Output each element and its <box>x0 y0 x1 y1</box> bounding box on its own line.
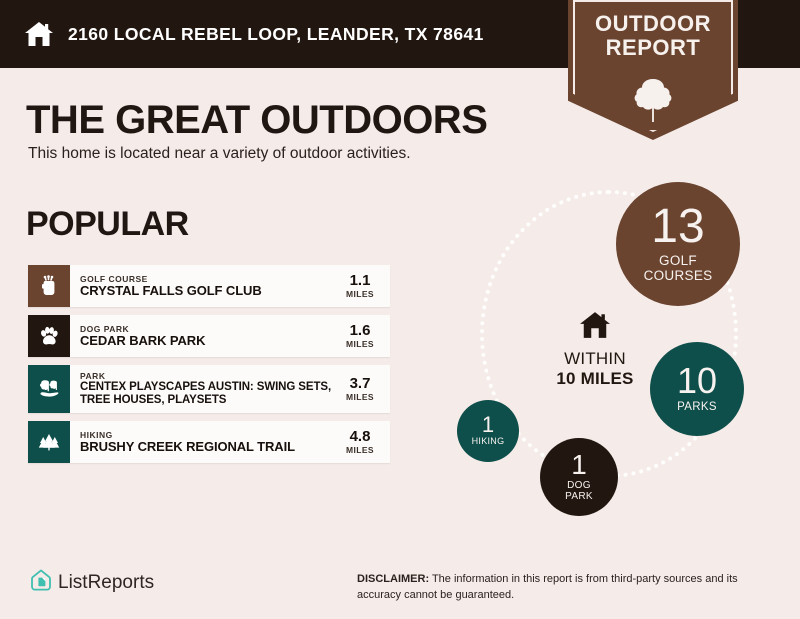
distance-value: 1.6 <box>350 323 371 338</box>
list-item-name: CENTEX PLAYSCAPES AUSTIN: SWING SETS, TR… <box>80 381 336 407</box>
listreports-logo[interactable]: ListReports <box>30 568 154 597</box>
stat-label: DOG PARK <box>565 480 593 502</box>
badge-title-line1: OUTDOOR <box>568 12 738 36</box>
stat-circle-parks: 10 PARKS <box>650 342 744 436</box>
pine-trees-icon <box>28 421 70 463</box>
stat-circle-hiking: 1 HIKING <box>457 400 519 462</box>
distance-value: 4.8 <box>350 429 371 444</box>
list-item-text: HIKING BRUSHY CREEK REGIONAL TRAIL <box>70 421 336 463</box>
distance-unit: MILES <box>346 392 374 402</box>
badge-title: OUTDOOR REPORT <box>568 12 738 60</box>
center-label-line2: 10 MILES <box>525 369 665 389</box>
distance-unit: MILES <box>346 445 374 455</box>
paw-print-icon <box>28 315 70 357</box>
list-item-name: BRUSHY CREEK REGIONAL TRAIL <box>80 440 336 455</box>
diagram-center-label: WITHIN 10 MILES <box>525 310 665 389</box>
stat-circle-dog-park: 1 DOG PARK <box>540 438 618 516</box>
stat-count: 1 <box>482 415 494 436</box>
page-title: THE GREAT OUTDOORS <box>26 98 487 143</box>
list-item[interactable]: GOLF COURSE CRYSTAL FALLS GOLF CLUB 1.1 … <box>28 265 390 307</box>
page-subtitle: This home is located near a variety of o… <box>28 145 411 163</box>
list-item[interactable]: HIKING BRUSHY CREEK REGIONAL TRAIL 4.8 M… <box>28 421 390 463</box>
list-item[interactable]: DOG PARK CEDAR BARK PARK 1.6 MILES <box>28 315 390 357</box>
stat-label-line2: PARK <box>565 491 593 502</box>
outdoor-summary-diagram: 13 GOLF COURSES 10 PARKS 1 DOG PARK 1 HI… <box>420 170 800 540</box>
distance-unit: MILES <box>346 339 374 349</box>
popular-list: GOLF COURSE CRYSTAL FALLS GOLF CLUB 1.1 … <box>28 265 390 471</box>
badge-title-line2: REPORT <box>568 36 738 60</box>
list-item-distance: 1.6 MILES <box>336 315 390 357</box>
list-item-name: CRYSTAL FALLS GOLF CLUB <box>80 284 336 299</box>
list-item-distance: 3.7 MILES <box>336 365 390 413</box>
stat-label-line1: DOG <box>565 480 593 491</box>
header-content: 2160 LOCAL REBEL LOOP, LEANDER, TX 78641 <box>24 0 484 68</box>
listreports-logo-icon <box>30 568 52 597</box>
stat-label-line1: GOLF <box>644 254 713 269</box>
stat-label-line2: COURSES <box>644 269 713 284</box>
park-trees-icon <box>28 365 70 413</box>
distance-unit: MILES <box>346 289 374 299</box>
stat-label: HIKING <box>472 437 505 447</box>
home-icon <box>24 20 54 48</box>
list-item-name: CEDAR BARK PARK <box>80 334 336 349</box>
disclaimer: DISCLAIMER: The information in this repo… <box>357 572 772 604</box>
list-item-distance: 1.1 MILES <box>336 265 390 307</box>
list-item-text: PARK CENTEX PLAYSCAPES AUSTIN: SWING SET… <box>70 365 336 413</box>
disclaimer-label: DISCLAIMER: <box>357 573 429 585</box>
list-item[interactable]: PARK CENTEX PLAYSCAPES AUSTIN: SWING SET… <box>28 365 390 413</box>
stat-count: 1 <box>571 452 587 479</box>
list-item-distance: 4.8 MILES <box>336 421 390 463</box>
stat-label: PARKS <box>677 401 717 414</box>
stat-label: GOLF COURSES <box>644 254 713 284</box>
header-address: 2160 LOCAL REBEL LOOP, LEANDER, TX 78641 <box>68 24 484 45</box>
distance-value: 3.7 <box>350 376 371 391</box>
list-item-text: DOG PARK CEDAR BARK PARK <box>70 315 336 357</box>
center-label-line1: WITHIN <box>525 349 665 369</box>
tree-icon <box>568 76 738 129</box>
golf-bag-icon <box>28 265 70 307</box>
stat-circle-golf-courses: 13 GOLF COURSES <box>616 182 740 306</box>
list-item-text: GOLF COURSE CRYSTAL FALLS GOLF CLUB <box>70 265 336 307</box>
popular-section-title: POPULAR <box>26 205 189 244</box>
distance-value: 1.1 <box>350 273 371 288</box>
stat-count: 10 <box>677 364 717 398</box>
home-icon <box>525 310 665 345</box>
listreports-logo-text: ListReports <box>58 572 154 594</box>
stat-count: 13 <box>651 204 704 250</box>
list-item-category: PARK <box>80 371 336 381</box>
